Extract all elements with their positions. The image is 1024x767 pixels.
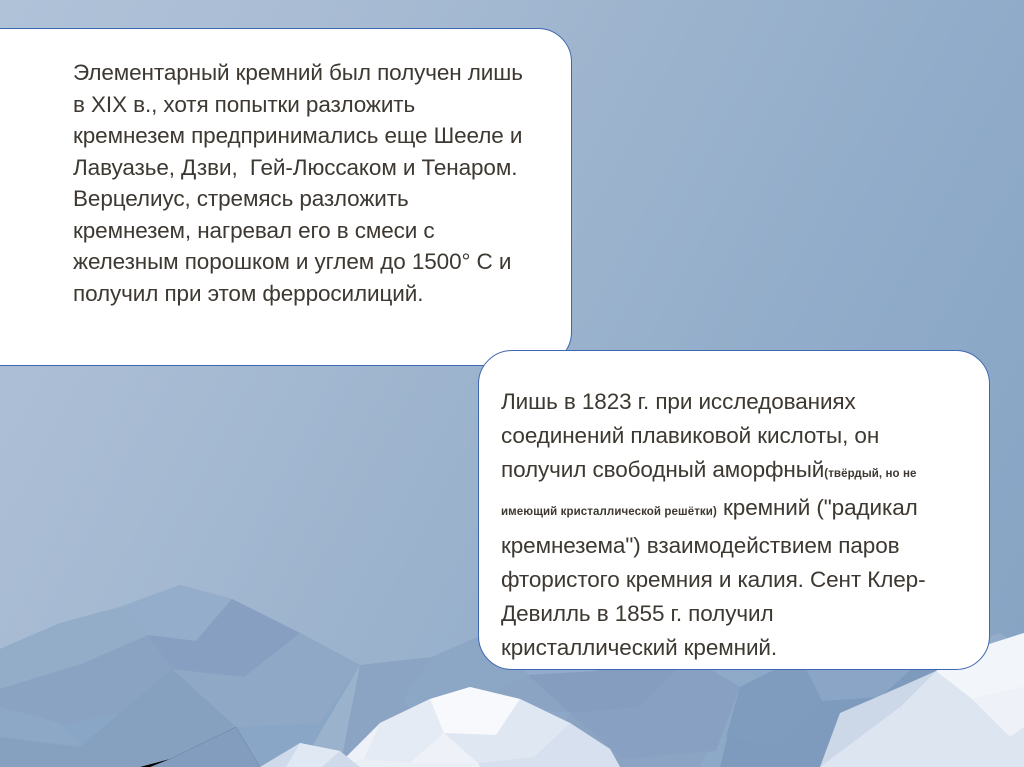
speech-bubble-secondary: Лишь в 1823 г. при исследованиях соедине…	[478, 350, 990, 670]
slide-canvas: Элементарный кремний был получен лишь в …	[0, 0, 1024, 767]
bubble-secondary-text: Лишь в 1823 г. при исследованиях соедине…	[501, 385, 955, 665]
bubble-secondary-text-part-2: кремний ("радикал кремнезема") взаимодей…	[501, 495, 925, 660]
speech-bubble-primary: Элементарный кремний был получен лишь в …	[0, 28, 572, 366]
bubble-primary-text: Элементарный кремний был получен лишь в …	[73, 57, 531, 309]
